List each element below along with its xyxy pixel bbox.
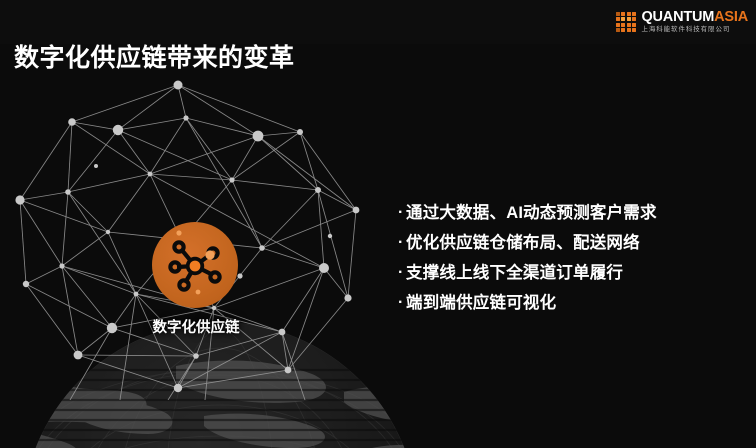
- digital-supply-chain-hub: [152, 222, 238, 308]
- slide-canvas: 数字化供应链 QUANTUMASIA 上海科能软件科技有限公司 数字化供应链带来…: [0, 0, 756, 448]
- list-item: · 支撑线上线下全渠道订单履行: [398, 263, 657, 283]
- list-item-label: 端到端供应链可视化: [406, 293, 556, 313]
- list-item-label: 通过大数据、AI动态预测客户需求: [406, 203, 657, 223]
- list-item: · 通过大数据、AI动态预测客户需求: [398, 203, 657, 223]
- bullet-marker: ·: [398, 233, 406, 253]
- list-item-label: 支撑线上线下全渠道订单履行: [406, 263, 623, 283]
- bullet-marker: ·: [398, 293, 406, 313]
- list-item: · 端到端供应链可视化: [398, 293, 657, 313]
- bullet-marker: ·: [398, 263, 406, 283]
- hub-label: 数字化供应链: [131, 316, 261, 337]
- logo-subtitle: 上海科能软件科技有限公司: [641, 27, 748, 34]
- quantum-grid-icon: [616, 12, 637, 33]
- list-item-label: 优化供应链仓储布局、配送网络: [406, 233, 640, 253]
- logo-wordmark: QUANTUMASIA: [641, 10, 748, 25]
- logo-text-block: QUANTUMASIA 上海科能软件科技有限公司: [641, 10, 748, 34]
- network-node-icon: [152, 222, 238, 308]
- bullet-marker: ·: [398, 203, 406, 223]
- page-title: 数字化供应链带来的变革: [14, 38, 295, 74]
- logo-word-quantum: QUANTUM: [641, 9, 714, 25]
- benefits-list: · 通过大数据、AI动态预测客户需求 · 优化供应链仓储布局、配送网络 · 支撑…: [398, 203, 657, 323]
- list-item: · 优化供应链仓储布局、配送网络: [398, 233, 657, 253]
- quantumasia-logo: QUANTUMASIA 上海科能软件科技有限公司: [616, 10, 748, 34]
- logo-word-asia: ASIA: [714, 9, 748, 25]
